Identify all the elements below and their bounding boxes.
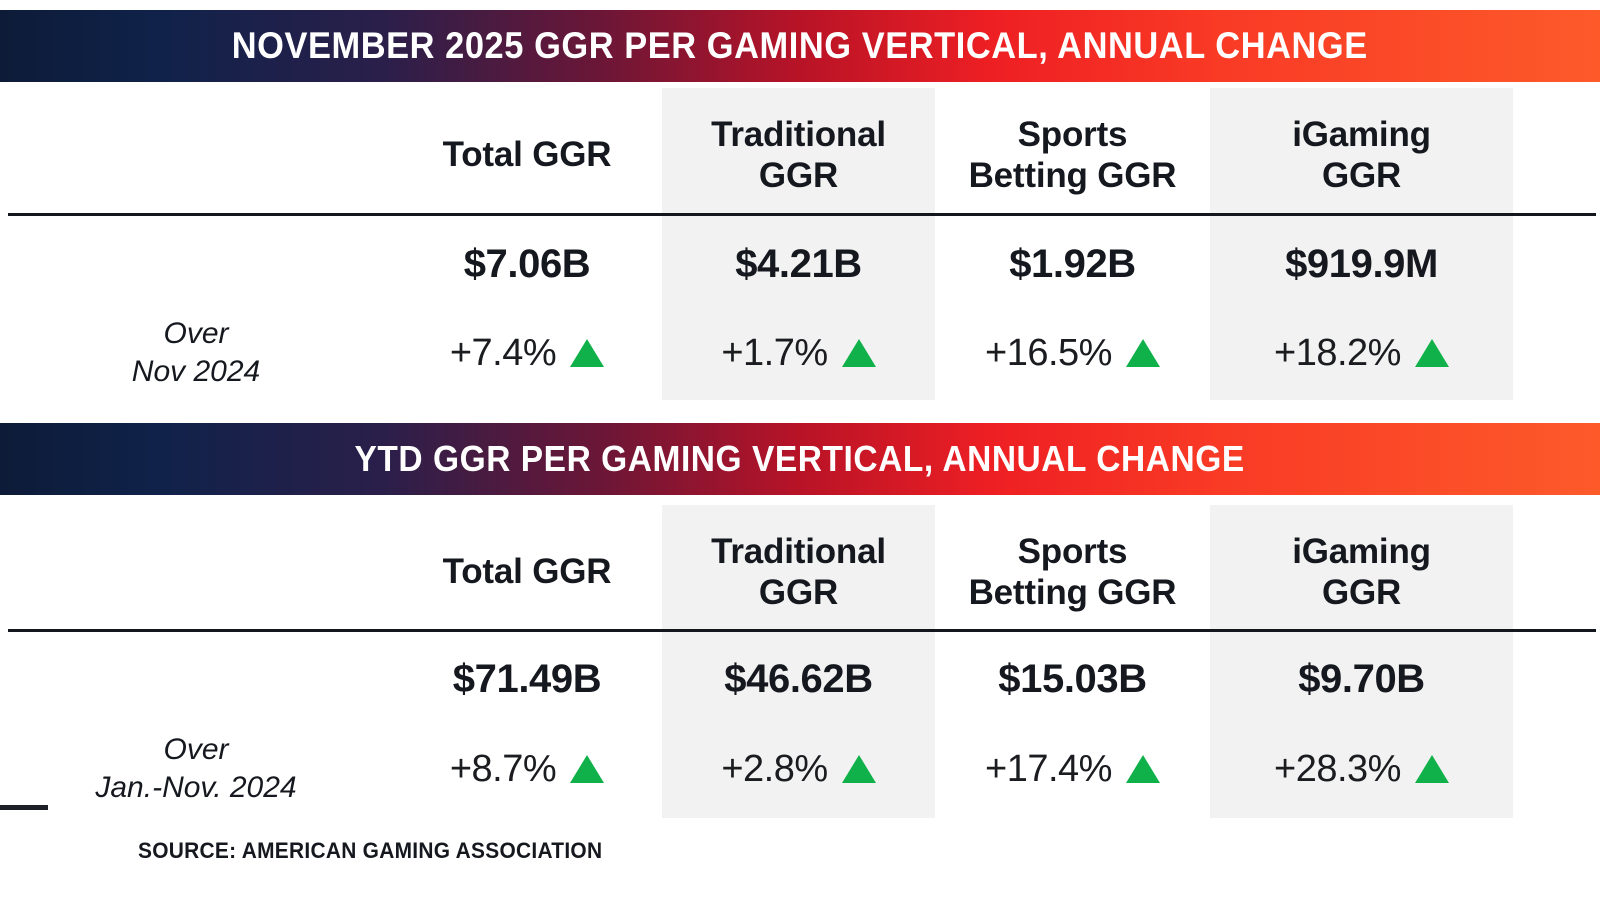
header-traditional-line2-2: GGR bbox=[711, 572, 886, 613]
value-cell-blank-1 bbox=[0, 228, 392, 300]
period-label-ytd: Over Jan.-Nov. 2024 bbox=[95, 731, 296, 808]
banner-november-title: NOVEMBER 2025 GGR PER GAMING VERTICAL, A… bbox=[232, 25, 1368, 67]
up-arrow-icon bbox=[1126, 755, 1160, 783]
period-label-november: Over Nov 2024 bbox=[132, 315, 260, 392]
value-igaming-november: $919.9M bbox=[1210, 228, 1513, 300]
banner-november: NOVEMBER 2025 GGR PER GAMING VERTICAL, A… bbox=[0, 10, 1600, 82]
change-total-november-value: +7.4% bbox=[450, 332, 556, 375]
change-igaming-november: +18.2% bbox=[1210, 306, 1513, 400]
change-total-november: +7.4% bbox=[392, 306, 662, 400]
header-rule-november bbox=[8, 213, 1596, 216]
header-cell-sports-2: Sports Betting GGR bbox=[935, 513, 1210, 631]
change-sports-november-value: +16.5% bbox=[985, 332, 1112, 375]
header-sports-line1-1: Sports bbox=[969, 114, 1177, 155]
decorative-dash bbox=[0, 805, 48, 810]
up-arrow-icon bbox=[842, 755, 876, 783]
infographic-sheet: NOVEMBER 2025 GGR PER GAMING VERTICAL, A… bbox=[0, 0, 1600, 900]
header-cell-blank-2 bbox=[0, 513, 392, 631]
change-total-ytd: +8.7% bbox=[392, 721, 662, 817]
change-traditional-ytd-value: +2.8% bbox=[721, 748, 827, 791]
header-cell-blank-1 bbox=[0, 96, 392, 214]
change-total-ytd-value: +8.7% bbox=[450, 748, 556, 791]
up-arrow-icon bbox=[1415, 755, 1449, 783]
header-traditional-line1-1: Traditional bbox=[711, 114, 886, 155]
value-sports-november: $1.92B bbox=[935, 228, 1210, 300]
value-sports-ytd: $15.03B bbox=[935, 643, 1210, 715]
up-arrow-icon bbox=[1126, 339, 1160, 367]
header-sports-line1-2: Sports bbox=[969, 531, 1177, 572]
up-arrow-icon bbox=[570, 339, 604, 367]
header-cell-total-2: Total GGR bbox=[392, 513, 662, 631]
value-cell-blank-2 bbox=[0, 643, 392, 715]
change-sports-ytd-value: +17.4% bbox=[985, 748, 1112, 791]
source-note: SOURCE: AMERICAN GAMING ASSOCIATION bbox=[138, 838, 602, 864]
header-igaming-line2-2: GGR bbox=[1292, 572, 1431, 613]
header-sports-line2-1: Betting GGR bbox=[969, 155, 1177, 196]
header-cell-sports-1: Sports Betting GGR bbox=[935, 96, 1210, 214]
value-traditional-ytd: $46.62B bbox=[662, 643, 935, 715]
change-igaming-ytd: +28.3% bbox=[1210, 721, 1513, 817]
header-cell-traditional-1: Traditional GGR bbox=[662, 96, 935, 214]
up-arrow-icon bbox=[842, 339, 876, 367]
period-cell-ytd: Over Jan.-Nov. 2024 bbox=[0, 721, 392, 817]
change-sports-ytd: +17.4% bbox=[935, 721, 1210, 817]
header-sports-line2-2: Betting GGR bbox=[969, 572, 1177, 613]
value-total-ytd: $71.49B bbox=[392, 643, 662, 715]
header-igaming-line2-1: GGR bbox=[1292, 155, 1431, 196]
header-row-november: Total GGR Traditional GGR Sports Betting… bbox=[0, 96, 1600, 214]
change-traditional-ytd: +2.8% bbox=[662, 721, 935, 817]
change-row-ytd: Over Jan.-Nov. 2024 +8.7% +2.8% +17.4% +… bbox=[0, 721, 1600, 817]
banner-ytd: YTD GGR PER GAMING VERTICAL, ANNUAL CHAN… bbox=[0, 423, 1600, 495]
header-igaming-line1-2: iGaming bbox=[1292, 531, 1431, 572]
header-cell-igaming-2: iGaming GGR bbox=[1210, 513, 1513, 631]
header-cell-total-1: Total GGR bbox=[392, 96, 662, 214]
change-igaming-november-value: +18.2% bbox=[1274, 332, 1401, 375]
header-cell-traditional-2: Traditional GGR bbox=[662, 513, 935, 631]
header-row-ytd: Total GGR Traditional GGR Sports Betting… bbox=[0, 513, 1600, 631]
up-arrow-icon bbox=[570, 755, 604, 783]
header-traditional-line2-1: GGR bbox=[711, 155, 886, 196]
header-igaming-line1-1: iGaming bbox=[1292, 114, 1431, 155]
header-traditional-line1-2: Traditional bbox=[711, 531, 886, 572]
banner-ytd-title: YTD GGR PER GAMING VERTICAL, ANNUAL CHAN… bbox=[355, 438, 1245, 480]
value-row-november: $7.06B $4.21B $1.92B $919.9M bbox=[0, 228, 1600, 300]
value-traditional-november: $4.21B bbox=[662, 228, 935, 300]
change-traditional-november-value: +1.7% bbox=[721, 332, 827, 375]
value-row-ytd: $71.49B $46.62B $15.03B $9.70B bbox=[0, 643, 1600, 715]
value-total-november: $7.06B bbox=[392, 228, 662, 300]
change-sports-november: +16.5% bbox=[935, 306, 1210, 400]
change-row-november: Over Nov 2024 +7.4% +1.7% +16.5% +18.2% bbox=[0, 306, 1600, 400]
value-igaming-ytd: $9.70B bbox=[1210, 643, 1513, 715]
up-arrow-icon bbox=[1415, 339, 1449, 367]
header-rule-ytd bbox=[8, 629, 1596, 632]
header-cell-igaming-1: iGaming GGR bbox=[1210, 96, 1513, 214]
period-cell-november: Over Nov 2024 bbox=[0, 306, 392, 400]
change-igaming-ytd-value: +28.3% bbox=[1274, 748, 1401, 791]
change-traditional-november: +1.7% bbox=[662, 306, 935, 400]
